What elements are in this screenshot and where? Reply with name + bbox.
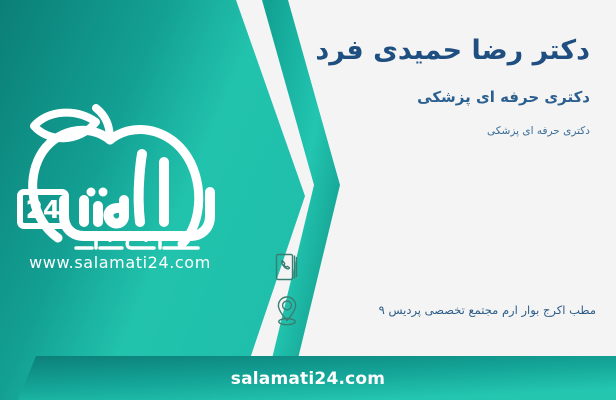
doctor-degree: دکتری حرفه ای پزشکی xyxy=(250,124,590,139)
doctor-info-block: دکتر رضا حمیدی فرد دکتری حرفه ای پزشکی د… xyxy=(250,34,590,138)
footer-bar: salamati24.com xyxy=(0,356,616,400)
map-pin-icon xyxy=(266,292,308,330)
footer-site-label: salamati24.com xyxy=(0,369,616,389)
phone-value xyxy=(308,261,596,273)
svg-text:www.salamati24.com: www.salamati24.com xyxy=(29,253,211,272)
salamati24-logo: 24 www.salamati24.com سلامتی 24 به راحتی… xyxy=(14,96,226,272)
doctor-name: دکتر رضا حمیدی فرد xyxy=(250,34,590,69)
contact-list: مطب اکرج بوار ارم مجتمع تخصصی پردیس ۹ xyxy=(266,248,596,336)
contact-row-phone[interactable] xyxy=(266,248,596,286)
phone-book-icon xyxy=(266,248,308,286)
svg-text:24: 24 xyxy=(26,195,61,224)
doctor-profile-card: 24 www.salamati24.com سلامتی 24 به راحتی… xyxy=(0,0,616,400)
address-value: مطب اکرج بوار ارم مجتمع تخصصی پردیس ۹ xyxy=(308,302,596,319)
doctor-specialty: دکتری حرفه ای پزشکی xyxy=(250,87,590,108)
contact-row-address[interactable]: مطب اکرج بوار ارم مجتمع تخصصی پردیس ۹ xyxy=(266,292,596,330)
